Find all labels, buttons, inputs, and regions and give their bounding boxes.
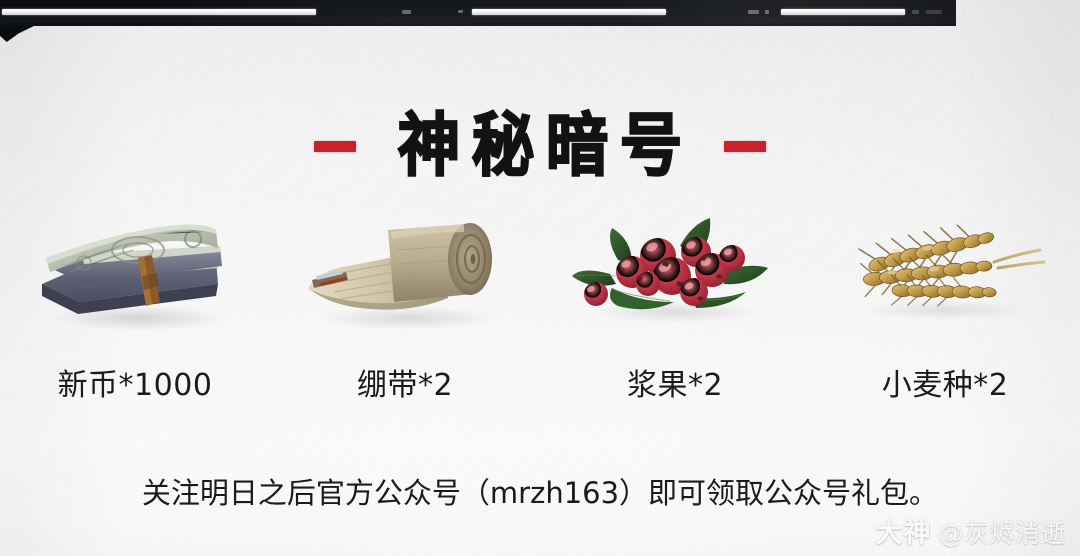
reward-item-berry: 浆果*2 — [540, 206, 810, 404]
bandage-roll-icon — [290, 206, 520, 346]
reward-label: 绷带*2 — [357, 360, 453, 404]
footer-note: 关注明日之后官方公众号（mrzh163）即可领取公众号礼包。 — [0, 470, 1080, 512]
wheat-seed-icon — [830, 206, 1060, 346]
reward-label: 新币*1000 — [58, 360, 213, 404]
reward-list: 新币*1000 — [0, 206, 1080, 436]
band-fleck — [926, 10, 942, 14]
reward-item-bandage: 绷带*2 — [270, 206, 540, 404]
reward-label: 浆果*2 — [627, 360, 723, 404]
berries-icon — [560, 206, 790, 346]
page-title: 神秘暗号 — [386, 112, 694, 180]
band-fleck — [458, 10, 463, 13]
band-fleck — [765, 10, 769, 14]
band-fleck — [402, 10, 411, 14]
band-fleck — [912, 10, 919, 14]
title-dash-left-icon — [314, 141, 356, 152]
reward-item-money: 新币*1000 — [0, 206, 270, 404]
band-line-segment — [2, 9, 316, 15]
cut-off-dark-band — [0, 0, 956, 26]
section-title-row: 神秘暗号 — [0, 104, 1080, 188]
band-fleck — [748, 10, 759, 14]
reward-label: 小麦种*2 — [882, 360, 1009, 404]
screenshot-root: 神秘暗号 — [0, 0, 1080, 556]
band-line-segment — [781, 9, 905, 15]
title-dash-right-icon — [724, 141, 766, 152]
money-stack-icon — [20, 206, 250, 346]
reward-item-wheat: 小麦种*2 — [810, 206, 1080, 404]
band-line-segment — [472, 9, 666, 15]
